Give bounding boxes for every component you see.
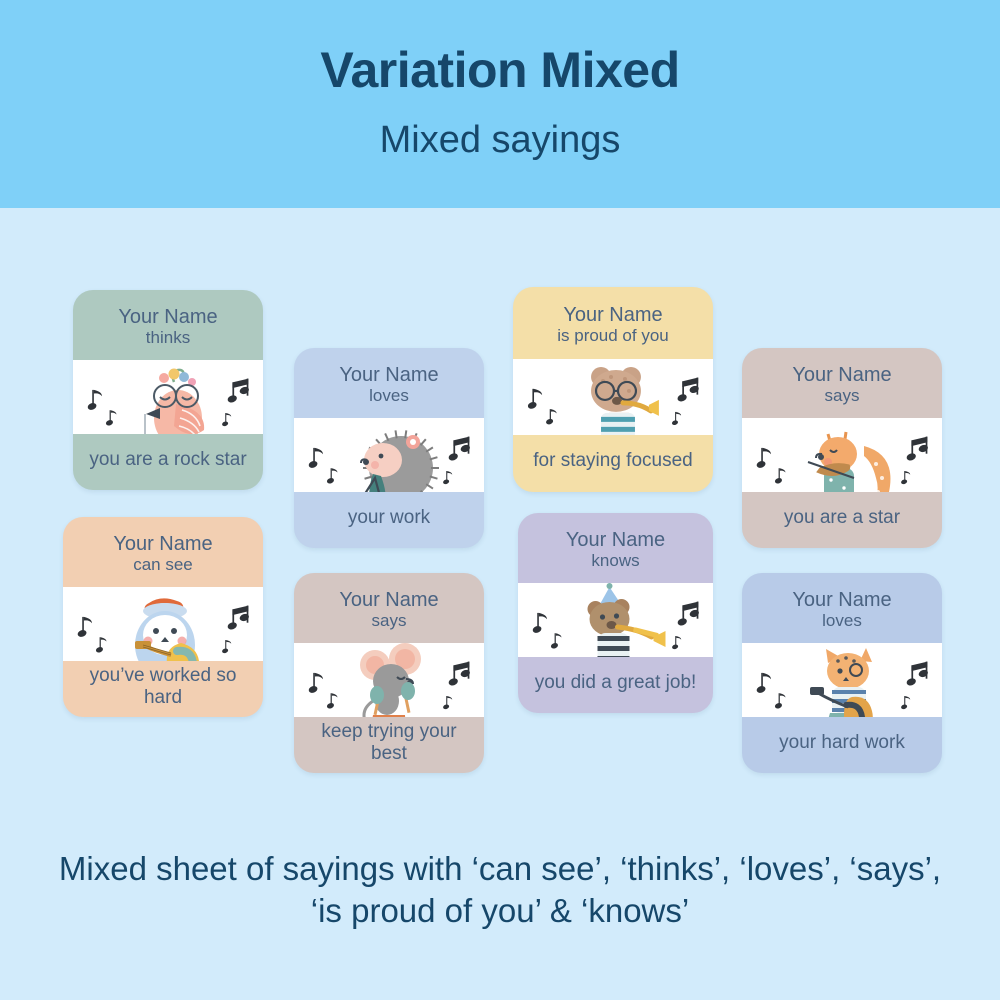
owl-illustration: [63, 587, 263, 661]
card-name-placeholder: Your Name: [339, 589, 438, 611]
sticker-card[interactable]: Your Name thinks: [73, 290, 263, 490]
card-header: Your Name says: [742, 348, 942, 418]
page-subtitle: Mixed sayings: [380, 116, 621, 165]
card-verb: loves: [369, 386, 409, 406]
card-illustration-band: [513, 359, 713, 435]
card-illustration-band: [294, 643, 484, 717]
card-name-placeholder: Your Name: [792, 589, 891, 611]
card-illustration-band: [742, 418, 942, 492]
sticker-card[interactable]: Your Name knows: [518, 513, 713, 713]
card-message: you are a star: [784, 507, 900, 529]
cat-illustration: [742, 643, 942, 717]
sticker-card[interactable]: Your Name loves: [294, 348, 484, 548]
card-message: your work: [348, 507, 430, 529]
card-illustration-band: [518, 583, 713, 657]
page-title: Variation Mixed: [320, 42, 679, 100]
sticker-card[interactable]: Your Name says: [742, 348, 942, 548]
sticker-card[interactable]: Your Name says: [294, 573, 484, 773]
card-header: Your Name knows: [518, 513, 713, 583]
card-footer: keep trying your best: [294, 717, 484, 773]
card-header: Your Name is proud of you: [513, 287, 713, 359]
card-verb: loves: [822, 611, 862, 631]
card-message: your hard work: [779, 732, 905, 754]
card-footer: your work: [294, 492, 484, 548]
card-footer: you did a great job!: [518, 657, 713, 713]
mouse-illustration: [294, 643, 484, 717]
card-message: keep trying your best: [302, 721, 476, 766]
card-verb: knows: [591, 551, 639, 571]
card-message: you are a rock star: [89, 449, 246, 471]
sticker-card[interactable]: Your Name is proud of you: [513, 287, 713, 492]
card-header: Your Name can see: [63, 517, 263, 587]
page-header: Variation Mixed Mixed sayings: [0, 0, 1000, 208]
card-footer: you’ve worked so hard: [63, 661, 263, 717]
footer-description: Mixed sheet of sayings with ‘can see’, ‘…: [50, 848, 950, 932]
card-message: for staying focused: [533, 450, 692, 472]
card-message: you’ve worked so hard: [71, 665, 255, 710]
card-header: Your Name loves: [294, 348, 484, 418]
card-name-placeholder: Your Name: [339, 364, 438, 386]
bear-with-party-hat-illustration: [518, 583, 713, 657]
card-illustration-band: [63, 587, 263, 661]
page-footer: Mixed sheet of sayings with ‘can see’, ‘…: [0, 838, 1000, 1000]
card-name-placeholder: Your Name: [563, 304, 662, 326]
card-footer: you are a rock star: [73, 434, 263, 490]
card-illustration-band: [73, 360, 263, 434]
card-footer: your hard work: [742, 717, 942, 773]
card-message: you did a great job!: [535, 672, 697, 694]
card-footer: for staying focused: [513, 435, 713, 492]
card-illustration-band: [294, 418, 484, 492]
bear-with-glasses-illustration: [513, 359, 713, 435]
card-name-placeholder: Your Name: [113, 533, 212, 555]
card-header: Your Name thinks: [73, 290, 263, 360]
card-name-placeholder: Your Name: [566, 529, 665, 551]
card-verb: thinks: [146, 328, 190, 348]
card-header: Your Name loves: [742, 573, 942, 643]
card-verb: can see: [133, 555, 193, 575]
card-illustration-band: [742, 643, 942, 717]
squirrel-illustration: [742, 418, 942, 492]
card-verb: says: [372, 611, 407, 631]
sticker-board: Your Name thinks: [0, 208, 1000, 838]
card-header: Your Name says: [294, 573, 484, 643]
sticker-card[interactable]: Your Name loves: [742, 573, 942, 773]
bird-with-flower-crown-illustration: [73, 360, 263, 434]
sticker-card[interactable]: Your Name can see: [63, 517, 263, 717]
card-verb: says: [825, 386, 860, 406]
hedgehog-illustration: [294, 418, 484, 492]
card-name-placeholder: Your Name: [792, 364, 891, 386]
card-verb: is proud of you: [557, 326, 669, 346]
card-name-placeholder: Your Name: [118, 306, 217, 328]
card-footer: you are a star: [742, 492, 942, 548]
